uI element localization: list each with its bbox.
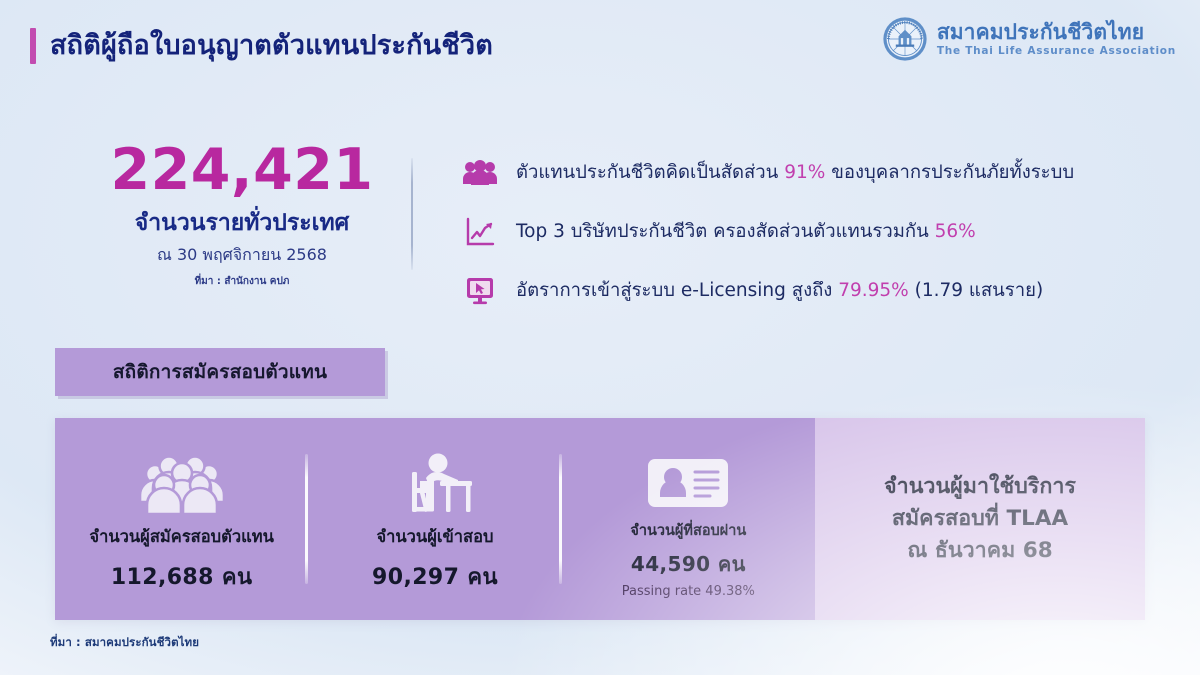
brand-logo-text: สมาคมประกันชีวิตไทย The Thai Life Assura… (937, 21, 1176, 56)
hero-label: จำนวนรายทั่วประเทศ (92, 209, 392, 238)
brand-logo: สมาคมประกันชีวิตไทย The Thai Life Assura… (882, 16, 1176, 62)
stat-label: จำนวนผู้เข้าสอบ (376, 527, 493, 548)
section-header-chip: สถิติการสมัครสอบตัวแทน (55, 348, 385, 396)
bullet-highlight: 56% (935, 221, 976, 242)
hero-date: ณ 30 พฤศจิกายน 2568 (92, 245, 392, 266)
exam-statistics-panel: จำนวนผู้สมัครสอบตัวแทน 112,688 คน (55, 418, 1145, 620)
stat-label: จำนวนผู้ที่สอบผ่าน (630, 522, 746, 540)
hero-source: ที่มา : สำนักงาน คปภ (92, 275, 392, 288)
line-chart-icon (462, 215, 498, 249)
bullet-item: อัตราการเข้าสู่ระบบ e-Licensing สูงถึง 7… (462, 266, 1162, 316)
header: สถิติผู้ถือใบอนุญาตตัวแทนประกันชีวิต (0, 0, 1200, 96)
monitor-cursor-icon (462, 274, 498, 308)
crowd-people-icon (134, 448, 230, 516)
page-title-group: สถิติผู้ถือใบอนุญาตตัวแทนประกันชีวิต (30, 28, 493, 64)
bullet-text: ตัวแทนประกันชีวิตคิดเป็นสัดส่วน 91% ของบ… (516, 161, 1074, 185)
stat-cell-passed: จำนวนผู้ที่สอบผ่าน 44,590 คน Passing rat… (562, 418, 815, 620)
stat-value: 112,688 คน (111, 559, 253, 594)
page-title: สถิติผู้ถือใบอนุญาตตัวแทนประกันชีวิต (50, 30, 493, 61)
hero-number: 224,421 (92, 140, 392, 202)
stat-label: จำนวนผู้สมัครสอบตัวแทน (89, 527, 274, 548)
bullet-text: อัตราการเข้าสู่ระบบ e-Licensing สูงถึง 7… (516, 279, 1043, 303)
stat-cell-applicants: จำนวนผู้สมัครสอบตัวแทน 112,688 คน (55, 418, 308, 620)
panel-side-line-1: จำนวนผู้มาใช้บริการ (884, 471, 1076, 503)
tlaa-emblem-icon (882, 16, 928, 62)
stat-value: 90,297 คน (372, 559, 498, 594)
bullet-text-after: ของบุคลากรประกันภัยทั้งระบบ (825, 162, 1074, 183)
bullet-text-before: ตัวแทนประกันชีวิตคิดเป็นสัดส่วน (516, 162, 784, 183)
panel-side-summary: จำนวนผู้มาใช้บริการ สมัครสอบที่ TLAA ณ ธ… (815, 418, 1145, 620)
stat-value: 44,590 คน (631, 548, 746, 580)
section-header-label: สถิติการสมัครสอบตัวแทน (113, 357, 327, 387)
slide-root: สถิติผู้ถือใบอนุญาตตัวแทนประกันชีวิต (0, 0, 1200, 675)
brand-name-en: The Thai Life Assurance Association (937, 46, 1176, 57)
bullet-text-before: Top 3 บริษัทประกันชีวิต ครองสัดส่วนตัวแท… (516, 221, 935, 242)
stat-cell-attendees: จำนวนผู้เข้าสอบ 90,297 คน (308, 418, 561, 620)
panel-side-text: จำนวนผู้มาใช้บริการ สมัครสอบที่ TLAA ณ ธ… (884, 471, 1076, 568)
people-group-icon (462, 156, 498, 190)
bullet-item: ตัวแทนประกันชีวิตคิดเป็นสัดส่วน 91% ของบ… (462, 148, 1162, 198)
panel-side-line-3: ณ ธันวาคม 68 (884, 535, 1076, 567)
panel-side-line-2: สมัครสอบที่ TLAA (884, 503, 1076, 535)
brand-name-th: สมาคมประกันชีวิตไทย (937, 21, 1176, 43)
title-accent-bar (30, 28, 36, 64)
bullet-text-before: อัตราการเข้าสู่ระบบ e-Licensing สูงถึง (516, 280, 838, 301)
hero-vertical-divider (411, 158, 413, 270)
stat-sub-passing-rate: Passing rate 49.38% (622, 584, 755, 599)
bullet-item: Top 3 บริษัทประกันชีวิต ครองสัดส่วนตัวแท… (462, 207, 1162, 257)
bullet-highlight: 91% (784, 162, 825, 183)
bullet-text: Top 3 บริษัทประกันชีวิต ครองสัดส่วนตัวแท… (516, 220, 976, 244)
bullet-text-after: (1.79 แสนราย) (909, 280, 1043, 301)
bullet-highlight: 79.95% (838, 280, 909, 301)
highlight-bullet-list: ตัวแทนประกันชีวิตคิดเป็นสัดส่วน 91% ของบ… (462, 148, 1162, 325)
footer-source: ที่มา : สมาคมประกันชีวิตไทย (50, 634, 199, 652)
id-card-icon (646, 443, 730, 511)
hero-stat-block: 224,421 จำนวนรายทั่วประเทศ ณ 30 พฤศจิกาย… (92, 140, 392, 288)
panel-main-stats: จำนวนผู้สมัครสอบตัวแทน 112,688 คน (55, 418, 815, 620)
student-at-desk-icon (396, 448, 474, 516)
